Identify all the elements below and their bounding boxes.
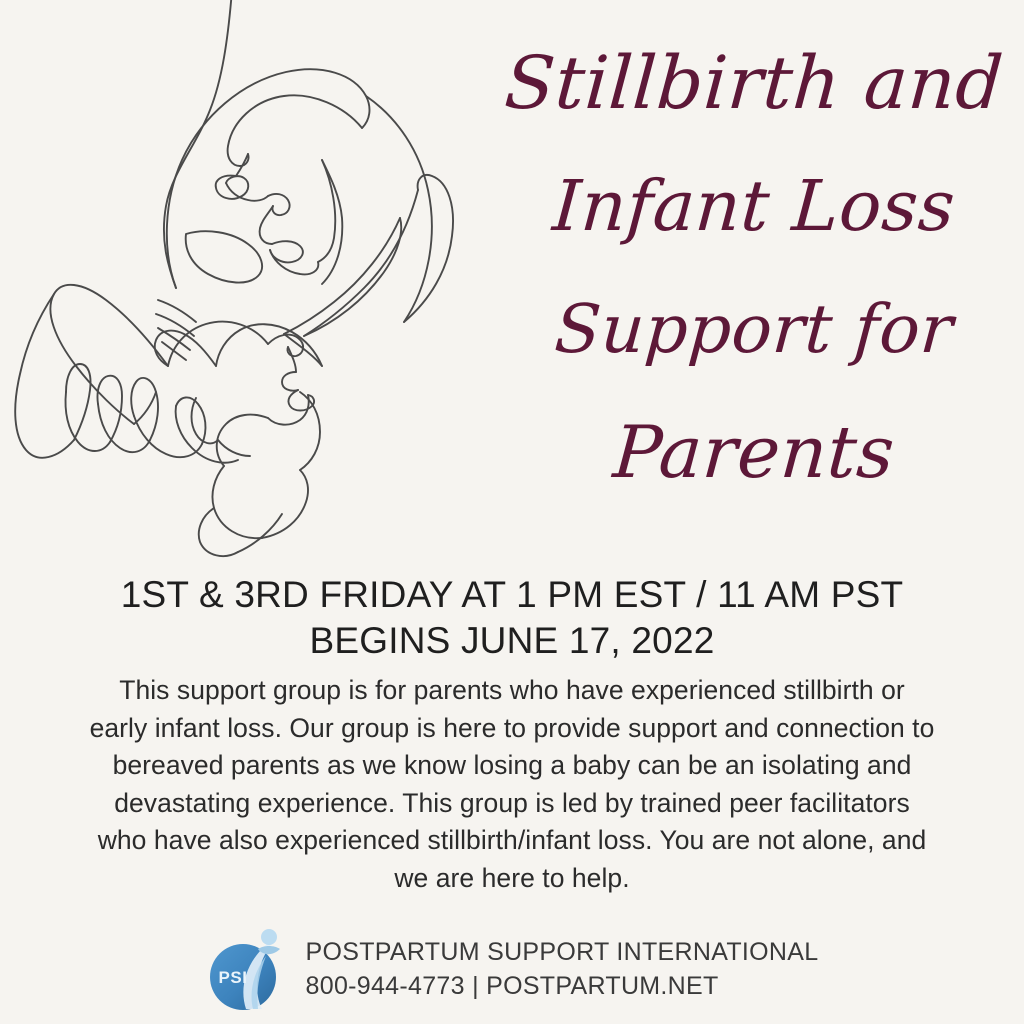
hair-strand-b-icon (304, 218, 401, 336)
baby-hand-icon (218, 440, 250, 456)
hair-strand-left-icon (164, 0, 232, 288)
logo-figure-head-icon (261, 929, 277, 945)
blanket-swirl-icon (186, 231, 262, 282)
logo-monogram: PSI (218, 968, 247, 987)
footer-text-block: POSTPARTUM SUPPORT INTERNATIONAL 800-944… (306, 935, 819, 1003)
description-line-4: devastating experience. This group is le… (62, 785, 962, 823)
baby-eye-icon (282, 372, 298, 391)
wing-outer-icon (15, 294, 74, 458)
organization-name: POSTPARTUM SUPPORT INTERNATIONAL (306, 935, 819, 969)
feather-5-icon (131, 378, 158, 440)
feather-3-icon (97, 376, 122, 442)
mother-philtrum-icon (260, 206, 273, 244)
description-line-3: bereaved parents as we know losing a bab… (62, 747, 962, 785)
description-line-6: we are here to help. (62, 860, 962, 898)
baby-nose-icon (288, 347, 296, 372)
baby-cheek-icon (217, 415, 268, 466)
hair-sweep-outer-icon (366, 96, 432, 322)
mother-and-baby-line-art-illustration (0, 0, 500, 560)
title-line-1: Stillbirth and (494, 22, 1015, 145)
mother-eye-icon (216, 176, 249, 199)
schedule-block: 1ST & 3RD FRIDAY AT 1 PM EST / 11 AM PST… (0, 572, 1024, 664)
poster-canvas: Stillbirth and Infant Loss Support for P… (0, 0, 1024, 1024)
schedule-meeting-time: 1ST & 3RD FRIDAY AT 1 PM EST / 11 AM PST (0, 572, 1024, 618)
finger-1-icon (158, 300, 196, 322)
page-title: Stillbirth and Infant Loss Support for P… (498, 22, 1010, 514)
footer: PSI POSTPARTUM SUPPORT INTERNATIONAL 800… (0, 925, 1024, 1013)
psi-logo: PSI (206, 925, 288, 1013)
title-line-2: Infant Loss (494, 145, 1015, 268)
feather-4-icon (98, 404, 150, 452)
title-line-4: Parents (494, 391, 1015, 514)
mother-nose-icon (268, 194, 290, 215)
schedule-start-date: BEGINS JUNE 17, 2022 (0, 618, 1024, 664)
baby-blanket-fold-icon (262, 470, 308, 538)
contact-line[interactable]: 800-944-4773 | POSTPARTUM.NET (306, 969, 819, 1003)
title-line-3: Support for (494, 268, 1015, 391)
description-line-1: This support group is for parents who ha… (62, 672, 962, 710)
wrap-lower-right-icon (238, 514, 282, 552)
description-line-5: who have also experienced stillbirth/inf… (62, 822, 962, 860)
mother-hair-right-inner-icon (322, 160, 342, 284)
description-paragraph: This support group is for parents who ha… (62, 672, 962, 897)
wrap-swirl-right-icon (300, 392, 320, 470)
baby-body-icon (212, 466, 262, 538)
wing-inner-join-icon (134, 392, 156, 424)
mother-arm-upper-icon (216, 330, 240, 366)
mother-jaw-icon (318, 160, 335, 262)
hair-strand-a-icon (304, 190, 418, 336)
feather-8-icon (176, 406, 238, 463)
description-line-2: early infant loss. Our group is here to … (62, 710, 962, 748)
